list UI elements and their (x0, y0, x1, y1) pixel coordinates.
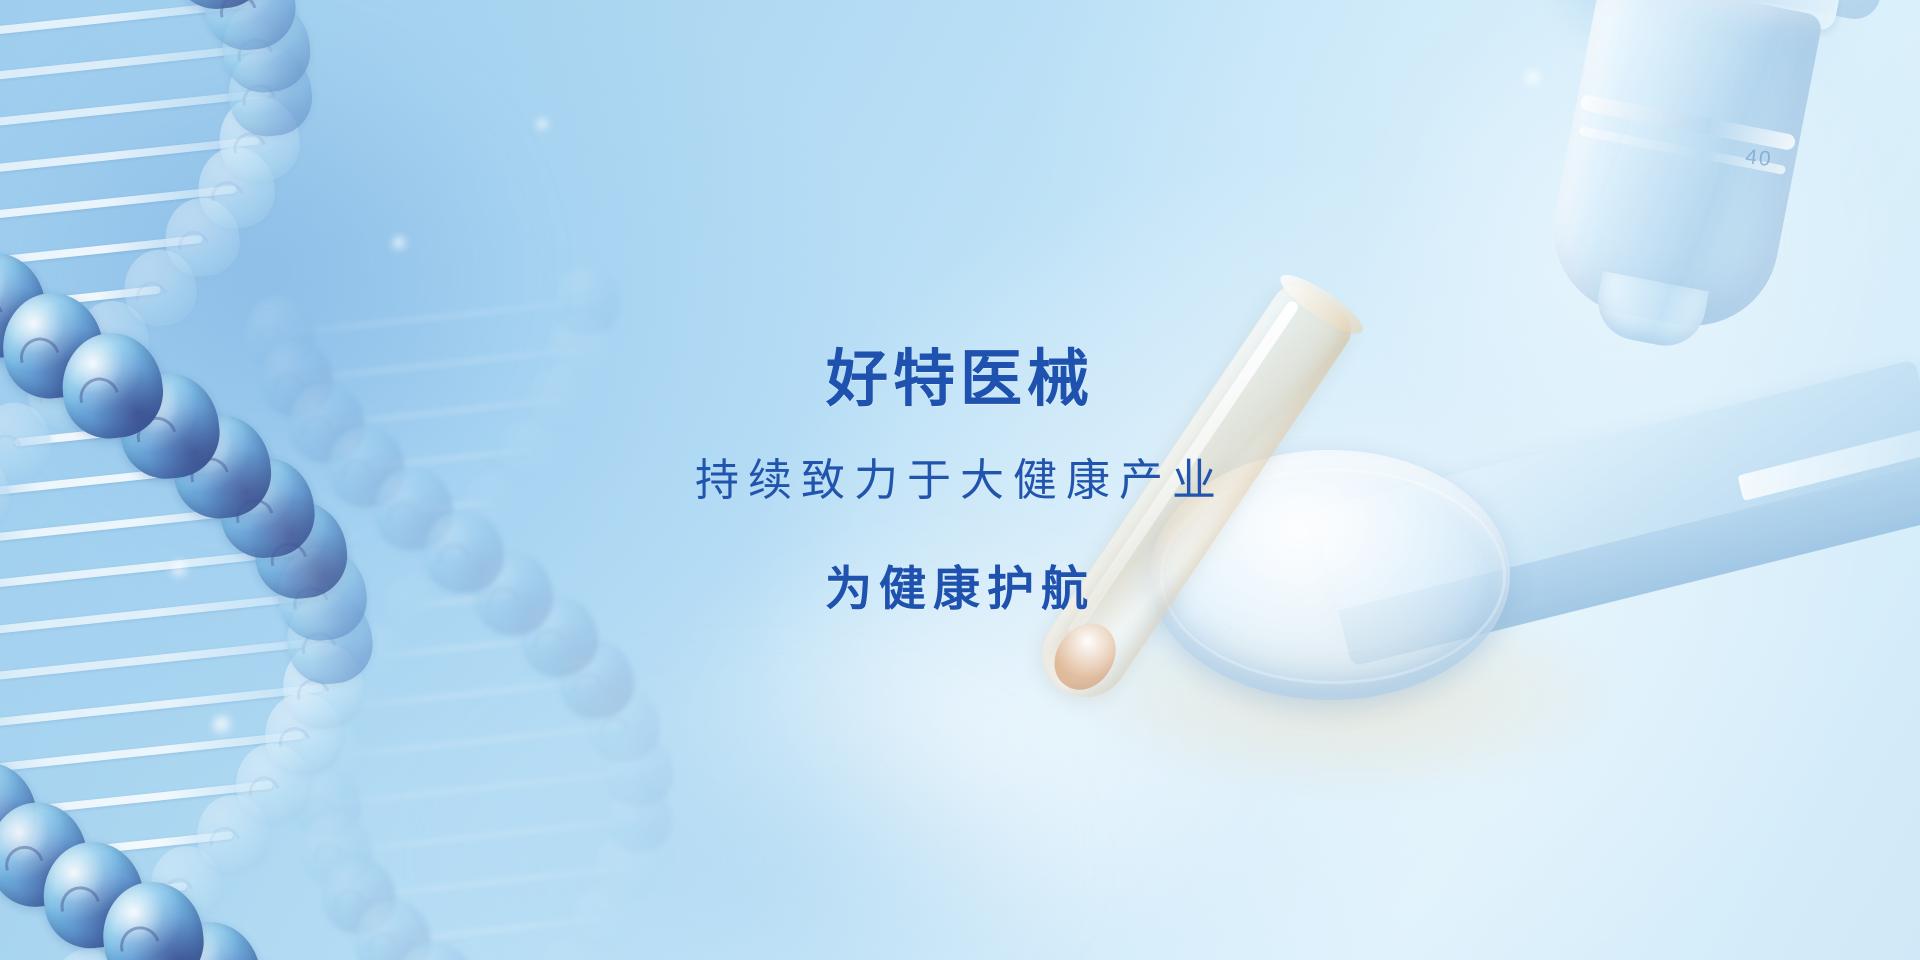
page-tagline: 为健康护航 (825, 565, 1095, 612)
page-title: 好特医械 (826, 349, 1094, 411)
page-subtitle: 持续致力于大健康产业 (695, 459, 1225, 503)
headline-block: 好特医械 持续致力于大健康产业 为健康护航 (0, 0, 1920, 960)
hero-banner: 40 好特医械 持续致力于大健康产业 为健康护航 (0, 0, 1920, 960)
